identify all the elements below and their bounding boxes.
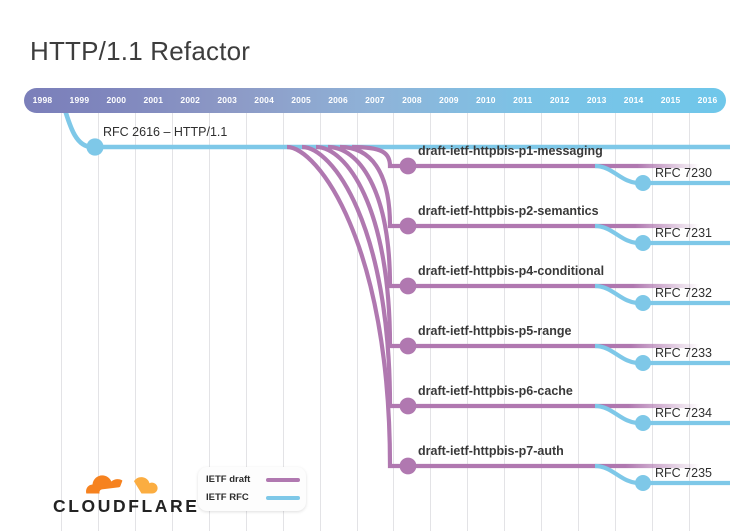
year-label-2012: 2012 — [541, 88, 578, 113]
label-draft-3: draft-ietf-httpbis-p4-conditional — [418, 264, 604, 278]
year-label-2011: 2011 — [504, 88, 541, 113]
label-draft-6: draft-ietf-httpbis-p7-auth — [418, 444, 564, 458]
year-label-2014: 2014 — [615, 88, 652, 113]
cloudflare-wordmark-text: CLOUDFLARE — [53, 496, 200, 516]
node-rfc-3 — [635, 295, 651, 311]
node-draft-5 — [400, 398, 417, 415]
label-rfc-2616: RFC 2616 – HTTP/1.1 — [103, 125, 227, 139]
node-rfc-2 — [635, 235, 651, 251]
legend-item-rfc: IETF RFC — [206, 490, 300, 506]
year-label-1999: 1999 — [61, 88, 98, 113]
label-rfc-4: RFC 7233 — [655, 346, 712, 360]
cloudflare-wordmark: CLOUDFLARE® — [53, 496, 205, 517]
legend-item-draft: IETF draft — [206, 472, 300, 488]
timeline-infographic: HTTP/1.1 Refactor 1998199920002001200220… — [0, 0, 730, 531]
node-rfc-5 — [635, 415, 651, 431]
timeline-lines — [0, 0, 730, 531]
label-rfc-3: RFC 7232 — [655, 286, 712, 300]
label-draft-5: draft-ietf-httpbis-p6-cache — [418, 384, 573, 398]
year-label-2008: 2008 — [393, 88, 430, 113]
year-axis-bar: 1998199920002001200220032004200520062007… — [24, 88, 726, 113]
label-rfc-1: RFC 7230 — [655, 166, 712, 180]
node-draft-1 — [400, 158, 417, 175]
node-rfc-2616 — [86, 138, 103, 155]
year-label-2001: 2001 — [135, 88, 172, 113]
label-draft-4: draft-ietf-httpbis-p5-range — [418, 324, 571, 338]
label-rfc-5: RFC 7234 — [655, 406, 712, 420]
year-label-2004: 2004 — [246, 88, 283, 113]
legend-swatch-rfc — [266, 496, 300, 500]
year-label-2015: 2015 — [652, 88, 689, 113]
year-label-2005: 2005 — [283, 88, 320, 113]
year-label-2007: 2007 — [357, 88, 394, 113]
legend-label-rfc: IETF RFC — [206, 490, 249, 506]
year-label-2009: 2009 — [430, 88, 467, 113]
node-draft-2 — [400, 218, 417, 235]
legend-swatch-draft — [266, 478, 300, 482]
label-draft-1: draft-ietf-httpbis-p1-messaging — [418, 144, 603, 158]
year-label-2010: 2010 — [467, 88, 504, 113]
year-label-2000: 2000 — [98, 88, 135, 113]
node-draft-3 — [400, 278, 417, 295]
cloudflare-logo: CLOUDFLARE® — [53, 462, 193, 514]
year-label-2006: 2006 — [320, 88, 357, 113]
node-draft-4 — [400, 338, 417, 355]
legend-label-draft: IETF draft — [206, 472, 250, 488]
cloudflare-cloud-icon — [86, 462, 158, 496]
label-rfc-6: RFC 7235 — [655, 466, 712, 480]
label-rfc-2: RFC 7231 — [655, 226, 712, 240]
legend: IETF draft IETF RFC — [198, 467, 306, 511]
node-rfc-1 — [635, 175, 651, 191]
year-label-2013: 2013 — [578, 88, 615, 113]
year-label-2002: 2002 — [172, 88, 209, 113]
node-rfc-4 — [635, 355, 651, 371]
year-label-2003: 2003 — [209, 88, 246, 113]
node-rfc-6 — [635, 475, 651, 491]
label-draft-2: draft-ietf-httpbis-p2-semantics — [418, 204, 599, 218]
year-label-1998: 1998 — [24, 88, 61, 113]
year-label-2016: 2016 — [689, 88, 726, 113]
node-draft-6 — [400, 458, 417, 475]
